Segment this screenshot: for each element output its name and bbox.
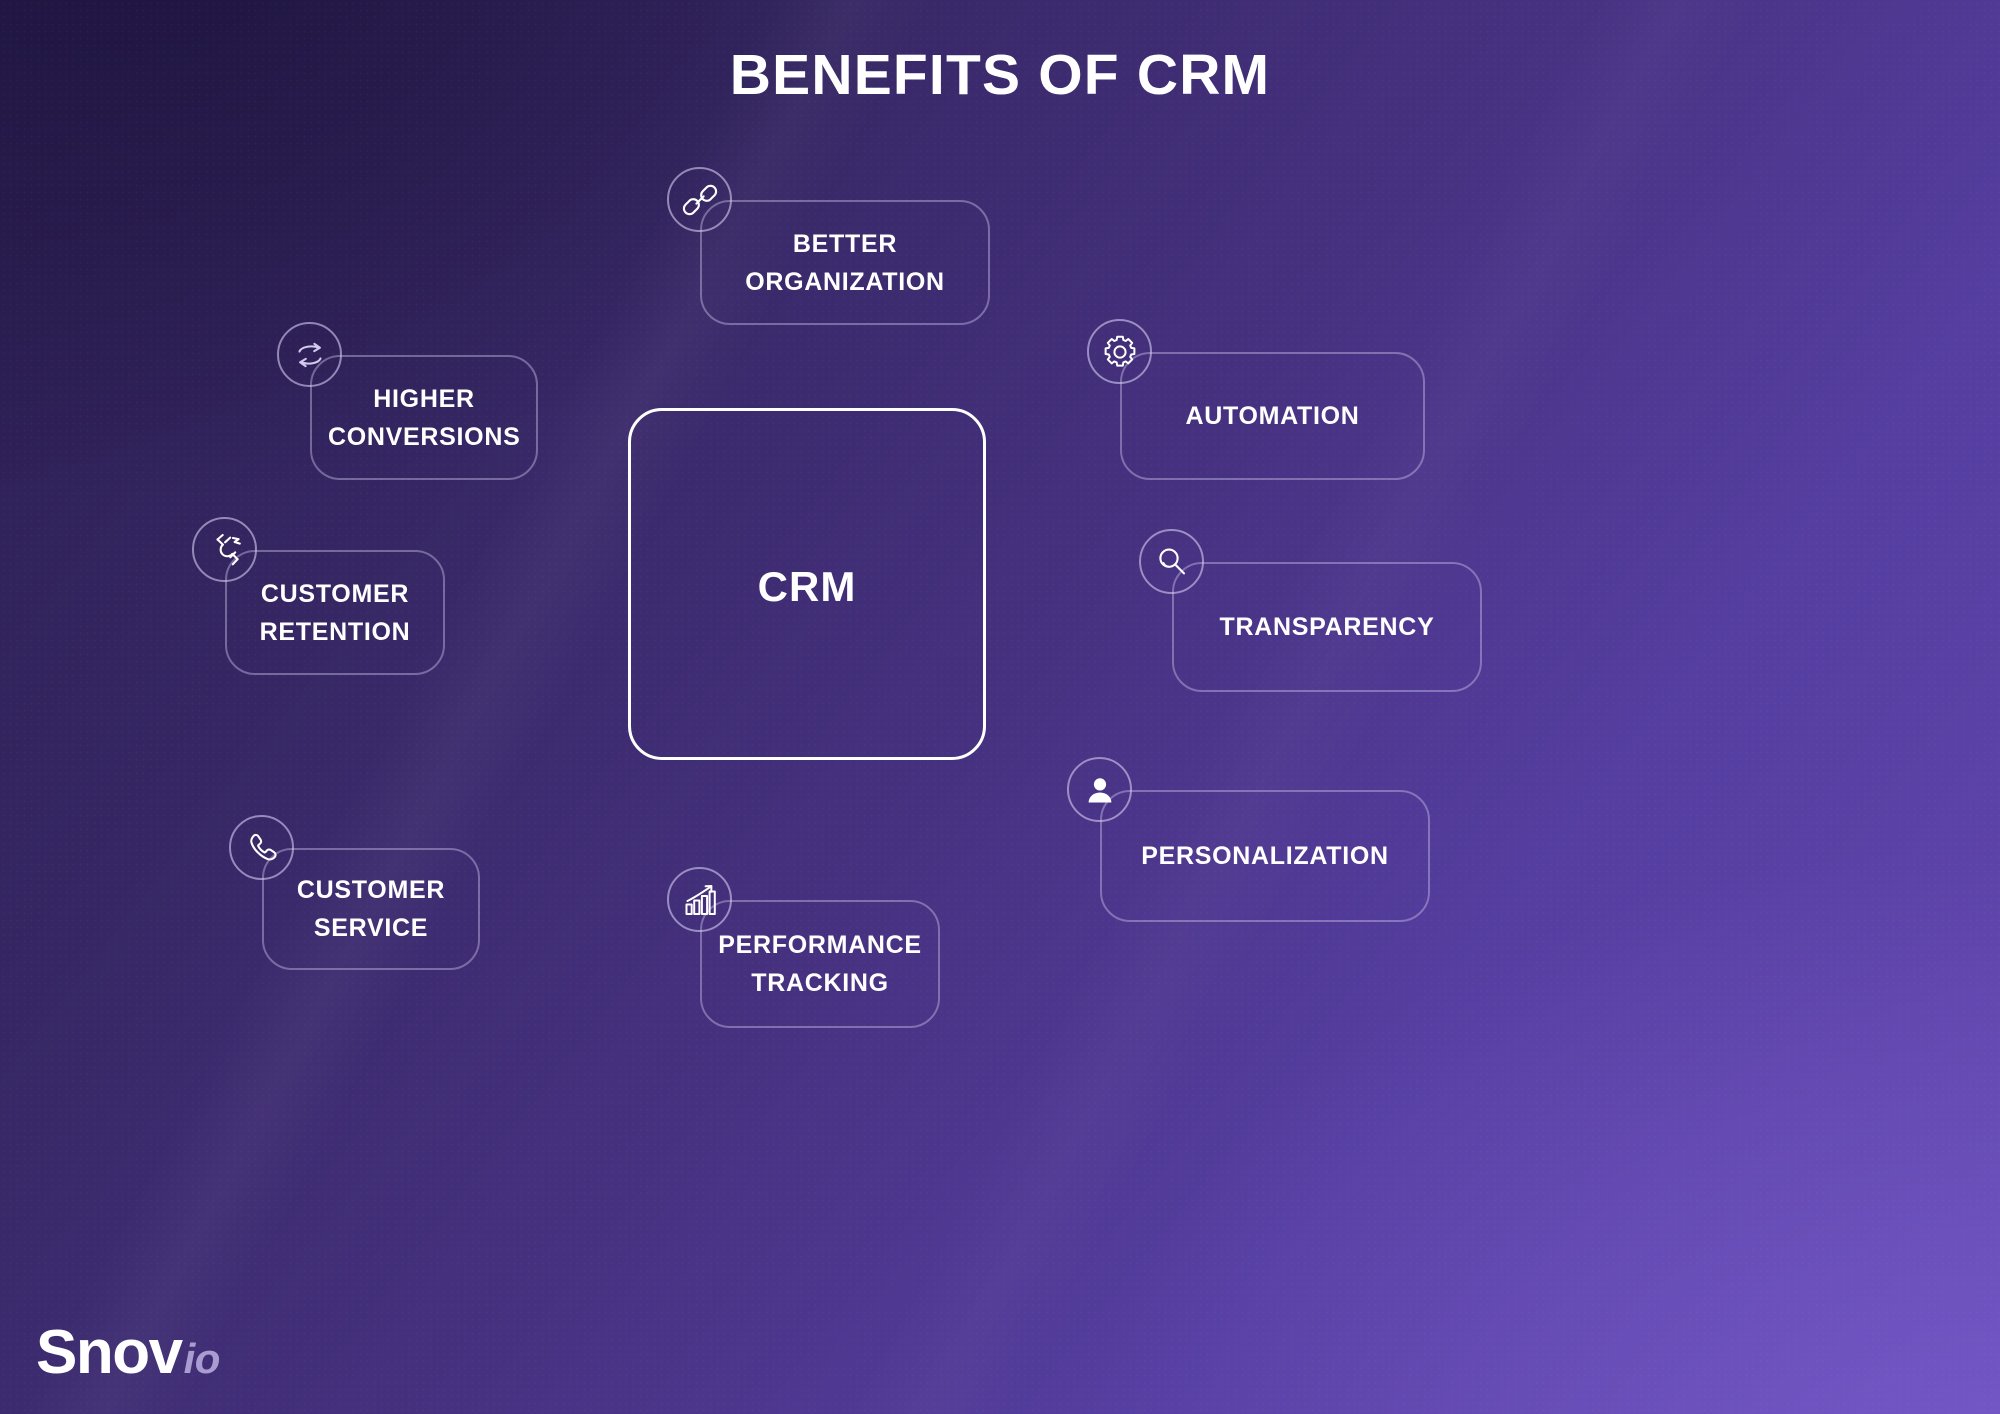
benefit-label-line1: PERFORMANCE — [718, 931, 922, 959]
link-icon — [667, 167, 732, 232]
snovio-logo[interactable]: Snov io — [36, 1317, 220, 1388]
benefit-label: CUSTOMER RETENTION — [225, 575, 445, 651]
refresh-cycle-icon — [277, 322, 342, 387]
benefit-node-performance-tracking: PERFORMANCE TRACKING — [700, 900, 940, 1028]
benefit-label-line1: PERSONALIZATION — [1141, 842, 1389, 870]
benefit-label: PERFORMANCE TRACKING — [700, 926, 940, 1002]
benefit-label: AUTOMATION — [1120, 397, 1425, 435]
benefit-label-line2: SERVICE — [314, 914, 428, 942]
benefit-node-customer-service: CUSTOMER SERVICE — [262, 848, 480, 970]
benefit-label-line1: CUSTOMER — [297, 876, 445, 904]
benefit-label-line1: HIGHER — [373, 385, 474, 413]
benefit-label-line1: TRANSPARENCY — [1220, 613, 1435, 641]
benefit-node-better-organization: BETTER ORGANIZATION — [700, 200, 990, 325]
benefit-label-line1: CUSTOMER — [261, 580, 409, 608]
bar-chart-growth-icon — [667, 867, 732, 932]
phone-icon — [229, 815, 294, 880]
benefit-label-line2: RETENTION — [260, 618, 411, 646]
magnifier-icon — [1139, 529, 1204, 594]
benefit-node-automation: AUTOMATION — [1120, 352, 1425, 480]
center-node-label: CRM — [631, 563, 983, 611]
benefit-node-personalization: PERSONALIZATION — [1100, 790, 1430, 922]
benefit-label-line2: CONVERSIONS — [328, 423, 520, 451]
benefit-label: HIGHER CONVERSIONS — [310, 380, 538, 456]
person-icon — [1067, 757, 1132, 822]
benefit-label-line2: TRACKING — [751, 969, 889, 997]
gear-icon — [1087, 319, 1152, 384]
benefit-node-higher-conversions: HIGHER CONVERSIONS — [310, 355, 538, 480]
benefit-label: PERSONALIZATION — [1100, 837, 1430, 875]
benefit-label-line1: BETTER — [793, 230, 897, 258]
benefit-label-line1: AUTOMATION — [1185, 402, 1359, 430]
infographic-canvas: BENEFITS OF CRM CRM BETTER ORGANIZATION — [0, 0, 2000, 1414]
logo-primary-text: Snov — [36, 1317, 182, 1388]
center-node-crm: CRM — [628, 408, 986, 760]
page-title: BENEFITS OF CRM — [0, 42, 2000, 108]
magnet-icon — [192, 517, 257, 582]
benefit-label: BETTER ORGANIZATION — [700, 225, 990, 301]
benefit-label-line2: ORGANIZATION — [745, 268, 945, 296]
benefit-label: CUSTOMER SERVICE — [262, 871, 480, 947]
benefit-label: TRANSPARENCY — [1172, 608, 1482, 646]
benefit-node-transparency: TRANSPARENCY — [1172, 562, 1482, 692]
benefit-node-customer-retention: CUSTOMER RETENTION — [225, 550, 445, 675]
logo-secondary-text: io — [184, 1335, 220, 1383]
